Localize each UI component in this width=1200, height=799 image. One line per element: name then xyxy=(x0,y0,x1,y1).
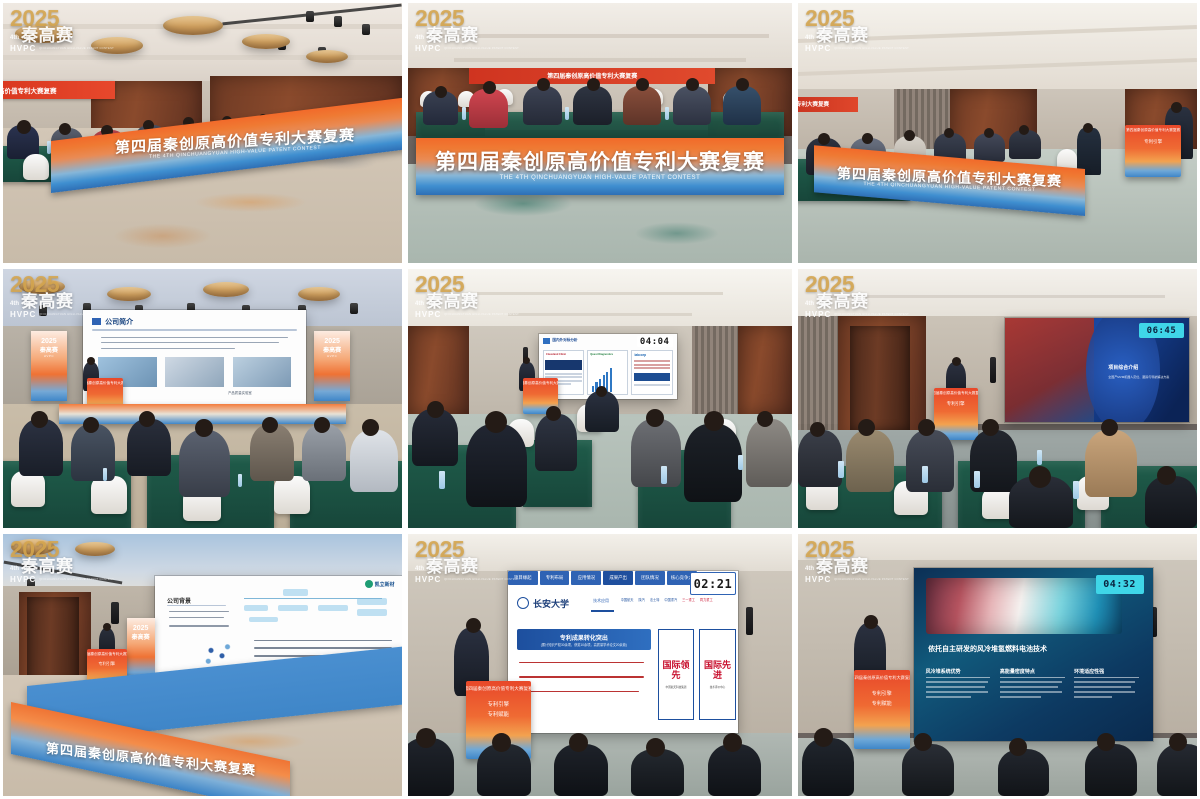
attendee-head xyxy=(814,728,833,747)
podium-slogan: 专利引擎 xyxy=(98,661,115,667)
photo-cell-top-left[interactable]: 高价值专利大赛复赛 xyxy=(0,0,405,266)
ceiling-band xyxy=(477,292,723,295)
attendee-head xyxy=(17,120,31,134)
slide-column: labcorp xyxy=(631,350,672,395)
certificate-right-label: 国际先进 xyxy=(700,661,735,681)
led-wall: 06:45 项目综合介绍 全国产MVM机器人定位、跟踪与导航解决方案 xyxy=(1005,318,1189,422)
podium-slogan-2: 专利赋能 xyxy=(872,701,892,708)
attendee-head xyxy=(646,409,664,427)
led-hero-image xyxy=(926,578,1122,633)
partner-logo: 法士特 xyxy=(650,597,660,602)
judge xyxy=(723,86,761,125)
water-bottle xyxy=(565,107,569,120)
attendee xyxy=(798,430,842,487)
photo-cell-middle-left[interactable]: 2025 秦高赛 HVPC 2025 秦高赛 HVPC 公司简介 研发创新 xyxy=(0,266,405,531)
partner-logo: 三一重工 xyxy=(682,597,695,602)
certificate-left-org: 中国航天科技集团 xyxy=(666,685,687,689)
slide-photo xyxy=(233,357,291,387)
photo-grid: 高价值专利大赛复赛 xyxy=(0,0,1200,799)
presenter-head xyxy=(87,357,95,365)
water-bottle xyxy=(661,466,667,484)
attendee-head xyxy=(83,417,99,433)
judge xyxy=(573,86,611,125)
led-column-head: 高能量密度特点 xyxy=(1000,668,1065,678)
photo-cell-middle-center[interactable]: 国内外对标分析 04:04 Cleveland Clinic Quest Dia… xyxy=(405,266,795,531)
wood-wall-panel xyxy=(738,326,792,414)
judge-head xyxy=(435,86,447,98)
podium-slogan: 专利引擎 xyxy=(1144,139,1162,145)
slide-title: 国内外对标分析 xyxy=(552,338,577,343)
judge-head xyxy=(483,81,496,94)
attendee xyxy=(127,419,171,476)
slide-headline-title: 专利成果转化突出 xyxy=(560,633,608,642)
tab-team[interactable]: 团队情况 xyxy=(635,571,665,586)
attendee-head xyxy=(914,733,932,751)
led-slide: 项目缘起 专利布局 应用情况 成果产出 团队情况 核心竞争力 02:21 长安大… xyxy=(508,571,738,733)
partner-logo: 中国航天 xyxy=(621,597,634,602)
tab-project-origin[interactable]: 项目缘起 xyxy=(508,571,538,586)
led-slide-title: 项目综合介绍 xyxy=(1108,364,1138,371)
attendee xyxy=(631,419,681,486)
tab-outcomes[interactable]: 成果产出 xyxy=(603,571,633,586)
chandelier xyxy=(203,282,249,297)
stage-light xyxy=(350,303,358,314)
led-column: 风冷堆系统优势 xyxy=(926,668,991,734)
slide-text-line xyxy=(519,691,639,693)
certificate-right-org: 技术评价中心 xyxy=(710,685,726,689)
org-row: 长安大学 xyxy=(517,597,569,610)
photo-cell-bottom-left[interactable]: 凯立新材 公司背景 xyxy=(0,531,405,799)
attendee-head xyxy=(262,417,278,433)
slide-logo-label: labcorp xyxy=(635,353,647,357)
attendee xyxy=(466,424,527,507)
flow-node xyxy=(318,605,348,612)
countdown-timer: 04:32 xyxy=(1096,575,1144,594)
rollup-year: 2025 xyxy=(41,338,57,345)
attendee xyxy=(350,430,398,492)
rollup-year: 2025 xyxy=(133,625,149,632)
ceiling xyxy=(798,3,1197,91)
attendee xyxy=(1085,430,1137,497)
door xyxy=(850,326,910,430)
podium: 第四届秦创原高价值专利大赛复赛 专利引擎 xyxy=(1125,125,1181,177)
speaker xyxy=(111,602,119,624)
staff-head xyxy=(1083,123,1093,133)
water-bottle xyxy=(1037,450,1042,465)
photo-middle-center: 国内外对标分析 04:04 Cleveland Clinic Quest Dia… xyxy=(408,269,792,528)
water-bottle xyxy=(922,466,928,483)
slide-text-line xyxy=(519,662,643,664)
projection-screen: 国内外对标分析 04:04 Cleveland Clinic Quest Dia… xyxy=(539,334,677,399)
slide-title: 公司背景 xyxy=(167,596,191,605)
led-robot-image xyxy=(1005,318,1093,422)
ceiling-band xyxy=(431,34,769,38)
podium-slogan-2: 专利赋能 xyxy=(487,712,509,719)
photo-bottom-right: 04:32 依托自主研发的风冷堆氢燃料电池技术 风冷堆系统优势 高能量密度特点 xyxy=(798,534,1197,796)
chair xyxy=(11,471,45,507)
judge xyxy=(469,89,507,128)
countdown-timer: 04:04 xyxy=(637,336,673,346)
ceiling-band xyxy=(830,295,1165,298)
attendee xyxy=(1085,744,1137,796)
podium-title: 第四届秦创原高价值专利大赛复赛 xyxy=(523,381,558,386)
attendee xyxy=(1145,476,1197,528)
rollup-banner-right: 2025 秦高赛 HVPC xyxy=(314,331,350,401)
partner-logo: 陕汽 xyxy=(638,597,644,602)
led-slide-title: 依托自主研发的风冷堆氢燃料电池技术 xyxy=(928,644,1047,654)
attendee xyxy=(846,430,894,492)
attendee-head xyxy=(314,417,330,433)
led-column-head: 环境适应性强 xyxy=(1074,668,1139,678)
wall-banner-text: 专利大赛复赛 xyxy=(798,100,829,108)
rollup-name: 秦高赛 xyxy=(323,345,341,354)
podium-slogan-1: 专利引擎 xyxy=(872,691,892,698)
podium-title: 第四届秦创原高价值专利大赛复赛 xyxy=(854,675,910,681)
org-name: 长安大学 xyxy=(533,597,569,610)
slide-title: 公司简介 xyxy=(105,317,133,327)
water-bottle xyxy=(738,455,743,470)
arrow-label: 技术应用 xyxy=(593,598,609,604)
event-banner: 第四届秦创原高价值专利大赛复赛 THE 4TH QINCHUANGYUAN HI… xyxy=(416,138,785,195)
slide-photo xyxy=(165,357,223,387)
certificate-right: 国际先进 技术评价中心 xyxy=(699,629,736,720)
slide-text-line xyxy=(101,342,280,343)
photo-bottom-left: 凯立新材 公司背景 xyxy=(3,534,402,796)
photo-cell-bottom-right[interactable]: 04:32 依托自主研发的风冷堆氢燃料电池技术 风冷堆系统优势 高能量密度特点 xyxy=(795,531,1200,799)
slide-text-line xyxy=(254,647,393,648)
water-bottle xyxy=(462,107,466,120)
slide-caption-right: 产品质量实验室 xyxy=(228,390,252,395)
judge xyxy=(673,86,711,125)
chandelier xyxy=(91,37,143,54)
tab-patent-layout[interactable]: 专利布局 xyxy=(540,571,570,586)
photo-cell-top-right[interactable]: 专利大赛复赛 第四届秦创原高价值专利大赛复赛 xyxy=(795,0,1200,266)
slide-text-line xyxy=(169,625,228,626)
photo-cell-middle-right[interactable]: 06:45 项目综合介绍 全国产MVM机器人定位、跟踪与导航解决方案 第四届秦创… xyxy=(795,266,1200,531)
rollup-name: 秦高赛 xyxy=(40,345,58,354)
photo-top-left: 高价值专利大赛复赛 xyxy=(3,3,402,263)
presenter-head xyxy=(952,357,961,366)
event-banner-title: 第四届秦创原高价值专利大赛复赛 xyxy=(435,151,765,175)
slide-logo-label: Cleveland Clinic xyxy=(546,353,566,356)
chandelier xyxy=(75,542,115,556)
certificate-left: 国际领先 中国航天科技集团 xyxy=(658,629,695,720)
judge xyxy=(623,86,661,125)
slide-marker xyxy=(543,338,550,344)
speaker xyxy=(746,607,753,635)
slide-text-line xyxy=(169,617,223,618)
attendee xyxy=(802,738,854,796)
chair xyxy=(23,154,49,180)
chandelier xyxy=(107,287,151,301)
presenter-seated xyxy=(585,391,620,432)
chandelier xyxy=(15,24,73,43)
partner-logos: 中国航天 陕汽 法士特 中国重汽 三一重工 同力重工 xyxy=(621,597,713,602)
attendee-head xyxy=(139,411,155,427)
podium: 第四届秦创原高价值专利大赛复赛 专利引擎 专利赋能 xyxy=(854,670,910,749)
attendee-head xyxy=(862,133,873,144)
wall-banner: 专利大赛复赛 xyxy=(798,97,858,113)
stage-light xyxy=(306,11,314,22)
podium-slogan-1: 专利引擎 xyxy=(487,702,509,709)
photo-top-center: 第四届秦创原高价值专利大赛复赛 xyxy=(408,3,792,263)
attendee-head xyxy=(984,128,994,138)
university-seal-icon xyxy=(517,597,529,609)
flow-connector xyxy=(244,598,383,599)
led-column: 环境适应性强 xyxy=(1074,668,1139,734)
attendee-head xyxy=(723,733,742,752)
logo-text: 凯立新材 xyxy=(375,581,395,588)
slide-text-line xyxy=(101,348,235,349)
speaker xyxy=(990,357,996,383)
slide-headline: 专利成果转化突出 (累计知识产权30余项，获奖10余项，高质量学术论文20余篇) xyxy=(517,629,651,650)
photo-middle-right: 06:45 项目综合介绍 全国产MVM机器人定位、跟踪与导航解决方案 第四届秦创… xyxy=(798,269,1197,528)
attendee xyxy=(179,430,231,497)
rollup-name: 秦高赛 xyxy=(132,632,150,641)
slide-logo-label: Quest Diagnostics xyxy=(590,353,613,356)
led-column: 高能量密度特点 xyxy=(1000,668,1065,734)
attendee-head xyxy=(944,128,954,138)
stage-light xyxy=(334,16,342,27)
attendee xyxy=(906,430,954,492)
flow-node xyxy=(278,605,308,612)
rollup-banner-left: 2025 秦高赛 HVPC xyxy=(31,331,67,401)
partner-logo: 中国重汽 xyxy=(664,597,677,602)
rollup-banner: 2025 秦高赛 xyxy=(127,618,155,681)
led-wall: 04:32 依托自主研发的风冷堆氢燃料电池技术 风冷堆系统优势 高能量密度特点 xyxy=(914,568,1153,741)
attendee-head xyxy=(416,728,436,748)
photo-middle-left: 2025 秦高赛 HVPC 2025 秦高赛 HVPC 公司简介 研发创新 xyxy=(3,269,402,528)
slide-tabs[interactable]: 项目缘起 专利布局 应用情况 成果产出 团队情况 核心竞争力 xyxy=(508,571,697,586)
stage-light xyxy=(362,24,370,35)
judge-head xyxy=(537,78,550,91)
slide-column: Quest Diagnostics xyxy=(587,350,628,395)
attendee-head xyxy=(982,419,999,436)
door xyxy=(27,597,79,683)
photo-top-right: 专利大赛复赛 第四届秦创原高价值专利大赛复赛 xyxy=(798,3,1197,263)
attendee-head xyxy=(195,419,213,437)
podium-title: 第四届秦创原高价值专利大赛复赛 xyxy=(934,391,978,396)
countdown-timer: 02:21 xyxy=(690,572,736,595)
certificate-left-label: 国际领先 xyxy=(659,661,694,681)
slide-text-line xyxy=(101,337,289,338)
water-bottle xyxy=(665,107,669,120)
attendee xyxy=(535,414,577,471)
stage-light xyxy=(39,305,47,316)
photo-cell-top-center[interactable]: 第四届秦创原高价值专利大赛复赛 xyxy=(405,0,795,266)
flow-node xyxy=(357,609,387,616)
attendee-head xyxy=(704,411,724,431)
host-head xyxy=(1171,102,1182,113)
presenter-head xyxy=(864,615,878,629)
flow-node xyxy=(249,617,279,623)
chair xyxy=(274,476,310,514)
water-bottle xyxy=(974,471,980,488)
judge-head xyxy=(587,78,600,91)
attendee-head xyxy=(59,123,71,135)
photo-bottom-center: 项目缘起 专利布局 应用情况 成果产出 团队情况 核心竞争力 02:21 长安大… xyxy=(408,534,792,796)
podium-title: 第四届秦创原高价值专利大赛复赛 xyxy=(87,652,127,657)
water-bottle xyxy=(103,468,107,481)
logo-mark-icon xyxy=(365,580,373,588)
rollup-abbrev: HVPC xyxy=(44,354,54,358)
attendee-head xyxy=(810,422,825,437)
wall-banner-text: 高价值专利大赛复赛 xyxy=(3,85,57,95)
water-bottle xyxy=(1073,481,1079,499)
slide-text-line xyxy=(519,676,643,678)
tab-application[interactable]: 应用情况 xyxy=(571,571,601,586)
chair xyxy=(91,476,127,514)
attendee xyxy=(684,424,742,502)
photo-cell-bottom-center[interactable]: 项目缘起 专利布局 应用情况 成果产出 团队情况 核心竞争力 02:21 长安大… xyxy=(405,531,795,799)
curtain xyxy=(798,316,838,430)
chandelier xyxy=(163,16,223,35)
judge xyxy=(523,86,561,125)
slide-bullet-marker xyxy=(92,318,101,325)
attendee xyxy=(71,424,115,481)
slide-text-line xyxy=(169,611,228,612)
presenter-head xyxy=(103,623,111,631)
attendee-head xyxy=(818,133,830,145)
rollup-abbrev: HVPC xyxy=(327,354,337,358)
slide-headline-sub: (累计知识产权30余项，获奖10余项，高质量学术论文20余篇) xyxy=(541,642,627,647)
attendee-head xyxy=(1157,466,1176,485)
partner-logo: 同力重工 xyxy=(700,597,713,602)
attendee-head xyxy=(918,419,935,436)
podium-slogan: 专利引擎 xyxy=(947,401,965,407)
flow-node xyxy=(244,605,269,612)
attendee xyxy=(408,738,454,796)
attendee xyxy=(302,424,346,481)
attendee xyxy=(902,744,954,796)
attendee-head xyxy=(596,386,607,397)
event-banner-subtitle: THE 4TH QINCHUANGYUAN HIGH-VALUE PATENT … xyxy=(500,175,701,182)
arrow-icon xyxy=(591,610,614,612)
water-bottle xyxy=(838,461,844,478)
podium-title: 第四届秦创原高价值专利大赛复赛 xyxy=(1126,128,1180,133)
water-bottle xyxy=(439,471,445,489)
countdown-timer: 06:45 xyxy=(1139,323,1183,338)
attendee xyxy=(746,419,792,486)
attendee xyxy=(1157,744,1197,796)
podium-title: 第四届秦创原高价值专利大赛复赛 xyxy=(87,381,123,386)
attendee xyxy=(250,424,294,481)
water-bottle xyxy=(238,474,242,487)
attendee xyxy=(998,749,1050,796)
led-slide-subtitle: 全国产MVM机器人定位、跟踪与导航解决方案 xyxy=(1108,375,1181,380)
chandelier xyxy=(306,50,348,63)
led-column-head: 风冷堆系统优势 xyxy=(926,668,991,678)
ceiling-band xyxy=(508,313,692,316)
staff-member xyxy=(1077,128,1101,175)
rollup-year: 2025 xyxy=(324,338,340,345)
presenter-head xyxy=(466,618,481,633)
slide-logo: 凯立新材 xyxy=(365,580,395,588)
wall-banner: 高价值专利大赛复赛 xyxy=(3,81,115,99)
curtain xyxy=(692,326,738,414)
slide-text-line xyxy=(254,640,393,641)
flow-node xyxy=(283,589,308,596)
podium-title: 第四届秦创原高价值专利大赛复赛 xyxy=(466,686,531,692)
ceiling-band xyxy=(454,58,746,62)
attendee-head xyxy=(858,419,875,436)
